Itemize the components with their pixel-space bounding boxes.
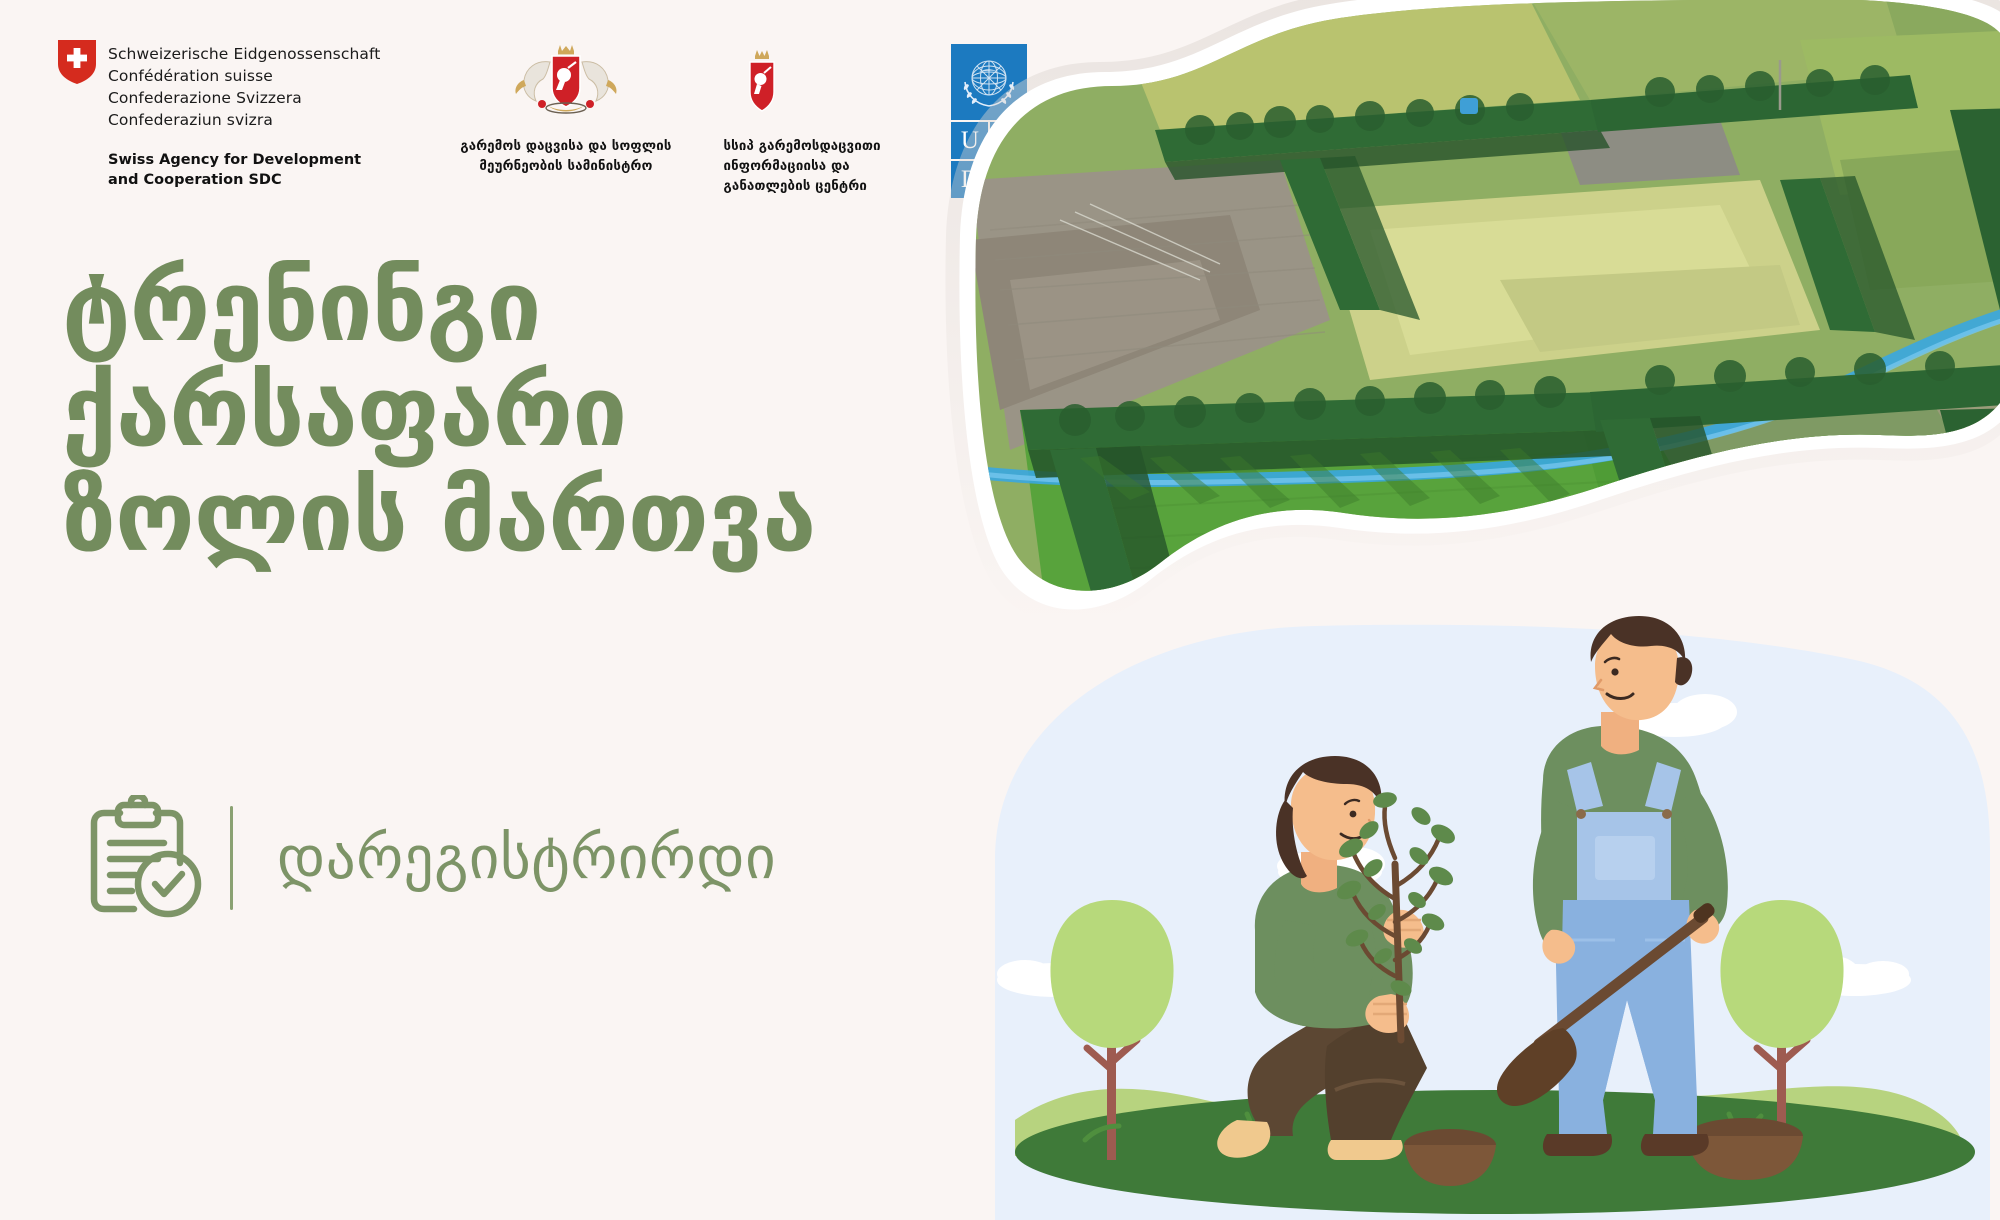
environmental-info-center-logo: სსიპ გარემოსდაცვითი ინფორმაციისა და განა… [723,40,909,197]
partner-logo-row: Schweizerische Eidgenossenschaft Confédé… [58,40,1027,198]
headline-line-2: ქარსაფარი [62,360,815,465]
georgia-ministry-logo: გარემოს დაცვისა და სოფლის მეურნეობის სამ… [458,40,673,177]
clipboard-check-icon [78,795,208,920]
swiss-cross-shield-icon [58,40,96,84]
page-title: ტრენინგი ქარსაფარი ზოლის მართვა [62,255,815,570]
aerial-farmland-photo [900,0,2000,640]
center-label-line-3: განათლების ცენტრი [723,177,880,197]
ministry-label-line-1: გარემოს დაცვისა და სოფლის [460,137,671,157]
center-label-line-1: სსიპ გარემოსდაცვითი [723,137,880,157]
georgia-coat-of-arms-shield-icon [723,40,785,126]
swiss-lang-rm: Confederaziun svizra [108,109,380,131]
ministry-label-line-2: მეურნეობის სამინისტრო [460,157,671,177]
swiss-lang-de: Schweizerische Eidgenossenschaft [108,43,380,65]
register-label: დარეგისტრირდი [277,823,776,892]
swiss-agency-line-2: and Cooperation SDC [108,170,380,190]
georgia-coat-of-arms-full-icon [502,40,630,126]
register-cta[interactable]: დარეგისტრირდი [78,795,776,920]
headline-line-3: ზოლის მართვა [62,465,815,570]
swiss-confederation-logo: Schweizerische Eidgenossenschaft Confédé… [58,40,380,190]
register-divider [230,806,233,910]
headline-line-1: ტრენინგი [62,255,815,360]
swiss-agency-line-1: Swiss Agency for Development [108,150,380,170]
poster-canvas: Schweizerische Eidgenossenschaft Confédé… [0,0,2000,1200]
swiss-lang-fr: Confédération suisse [108,65,380,87]
tree-planting-illustration [955,600,2000,1220]
swiss-lang-it: Confederazione Svizzera [108,87,380,109]
center-label-line-2: ინფორმაციისა და [723,157,880,177]
